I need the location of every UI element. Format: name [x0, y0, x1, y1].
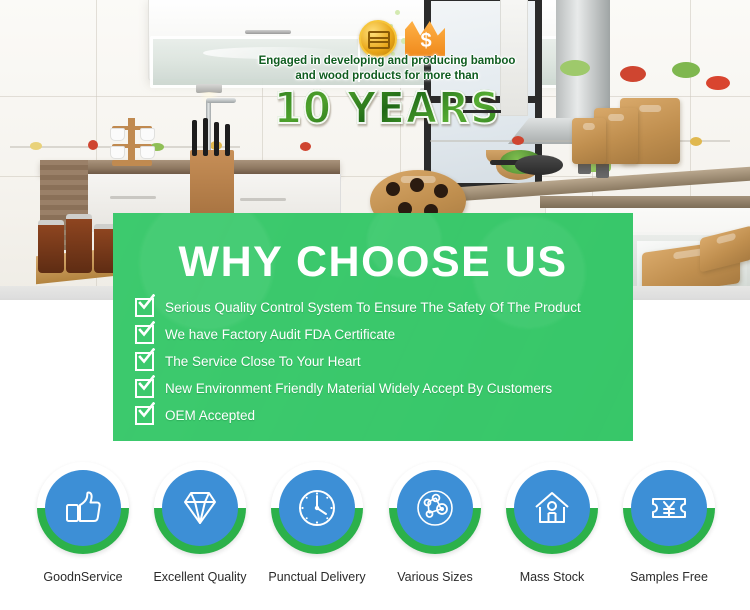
crown-dollar-symbol: $: [419, 30, 433, 52]
banner-headline: Engaged in developing and producing bamb…: [253, 54, 521, 84]
dark-item: [410, 178, 424, 192]
feature-label: GoodnService: [24, 569, 142, 585]
feature-circle: [389, 462, 481, 554]
knife-block: [190, 150, 234, 222]
veggie-decal: [560, 60, 590, 76]
benefits-checklist: Serious Quality Control System To Ensure…: [135, 297, 621, 432]
banner-headline-line1: Engaged in developing and producing bamb…: [253, 54, 521, 69]
list-item: OEM Accepted: [135, 405, 621, 426]
knife: [192, 120, 197, 156]
feature-item-punctual-delivery[interactable]: Punctual Delivery: [258, 462, 376, 585]
feature-item-excellent-quality[interactable]: Excellent Quality: [141, 462, 259, 585]
diamond-icon: [162, 470, 238, 546]
right-worktop-return: [540, 196, 750, 208]
list-item: We have Factory Audit FDA Certificate: [135, 324, 621, 345]
list-item: Serious Quality Control System To Ensure…: [135, 297, 621, 318]
gold-coin-icon: [359, 20, 397, 58]
clock-icon: [279, 470, 355, 546]
hanging-mug: [110, 128, 125, 141]
warehouse-home-icon: [514, 470, 590, 546]
feature-label: Various Sizes: [376, 569, 494, 585]
list-item: New Environment Friendly Material Widely…: [135, 378, 621, 399]
knife: [225, 124, 230, 156]
veggie-decal: [690, 137, 702, 146]
checkbox-icon: [135, 325, 154, 344]
veggie-decal: [512, 136, 524, 145]
dark-item: [434, 184, 448, 198]
checkbox-icon: [135, 352, 154, 371]
under-cabinet-light: [196, 84, 222, 93]
knife: [203, 118, 208, 156]
knife: [214, 122, 219, 156]
veggie-decal: [672, 62, 700, 78]
page-title: WHY CHOOSE US: [113, 238, 633, 286]
years-heading: 10 YEARS: [264, 86, 511, 132]
promo-banner-page: $ Engaged in developing and producing ba…: [0, 0, 750, 610]
feature-circle: [37, 462, 129, 554]
feature-item-mass-stock[interactable]: Mass Stock: [493, 462, 611, 585]
sparkle-icon: [395, 10, 400, 15]
veggie-decal: [620, 66, 646, 82]
veggie-decal: [300, 142, 311, 151]
thumbs-up-icon: [45, 470, 121, 546]
feature-label: Excellent Quality: [141, 569, 259, 585]
feature-item-goodnservice[interactable]: GoodnService: [24, 462, 142, 585]
checkbox-icon: [135, 298, 154, 317]
banner-headline-line2: and wood products for more than: [253, 69, 521, 84]
feature-circle: [623, 462, 715, 554]
checkbox-icon: [135, 379, 154, 398]
faucet-arm: [206, 98, 236, 103]
years-rule: [463, 110, 501, 113]
feature-label: Samples Free: [610, 569, 728, 585]
mug-tree-base: [112, 160, 152, 166]
feature-circle: [154, 462, 246, 554]
dark-item: [386, 182, 400, 196]
list-item-label: New Environment Friendly Material Widely…: [165, 381, 552, 397]
veggie-decal: [706, 76, 730, 90]
veggie-decal: [88, 140, 98, 150]
why-choose-us-panel: WHY CHOOSE US Serious Quality Control Sy…: [113, 213, 633, 441]
yen-ticket-icon: [631, 470, 707, 546]
mug-tree-post: [128, 118, 135, 164]
list-item-label: The Service Close To Your Heart: [165, 354, 361, 370]
list-item-label: We have Factory Audit FDA Certificate: [165, 327, 395, 343]
feature-icon-row: GoodnService Excellent Quality: [0, 462, 750, 610]
feature-label: Mass Stock: [493, 569, 611, 585]
drawer-handle: [110, 196, 156, 199]
list-item-label: Serious Quality Control System To Ensure…: [165, 300, 581, 316]
list-item-label: OEM Accepted: [165, 408, 255, 424]
hanging-mug: [140, 146, 155, 159]
feature-item-samples-free[interactable]: Samples Free: [610, 462, 728, 585]
preserve-jar: [38, 220, 64, 273]
top-banner: $ Engaged in developing and producing ba…: [253, 4, 521, 136]
preserve-jar: [66, 214, 92, 273]
hanging-mug: [110, 146, 125, 159]
hanging-mug: [140, 128, 155, 141]
cutting-board: [572, 118, 606, 164]
drawer-handle: [240, 198, 286, 201]
feature-circle: [506, 462, 598, 554]
list-item: The Service Close To Your Heart: [135, 351, 621, 372]
coin-inner-mark: [368, 31, 390, 49]
feature-label: Punctual Delivery: [258, 569, 376, 585]
feature-circle: [271, 462, 363, 554]
network-nodes-icon: [397, 470, 473, 546]
veggie-decal: [30, 142, 42, 150]
checkbox-icon: [135, 406, 154, 425]
frying-pan: [515, 155, 563, 175]
feature-item-various-sizes[interactable]: Various Sizes: [376, 462, 494, 585]
